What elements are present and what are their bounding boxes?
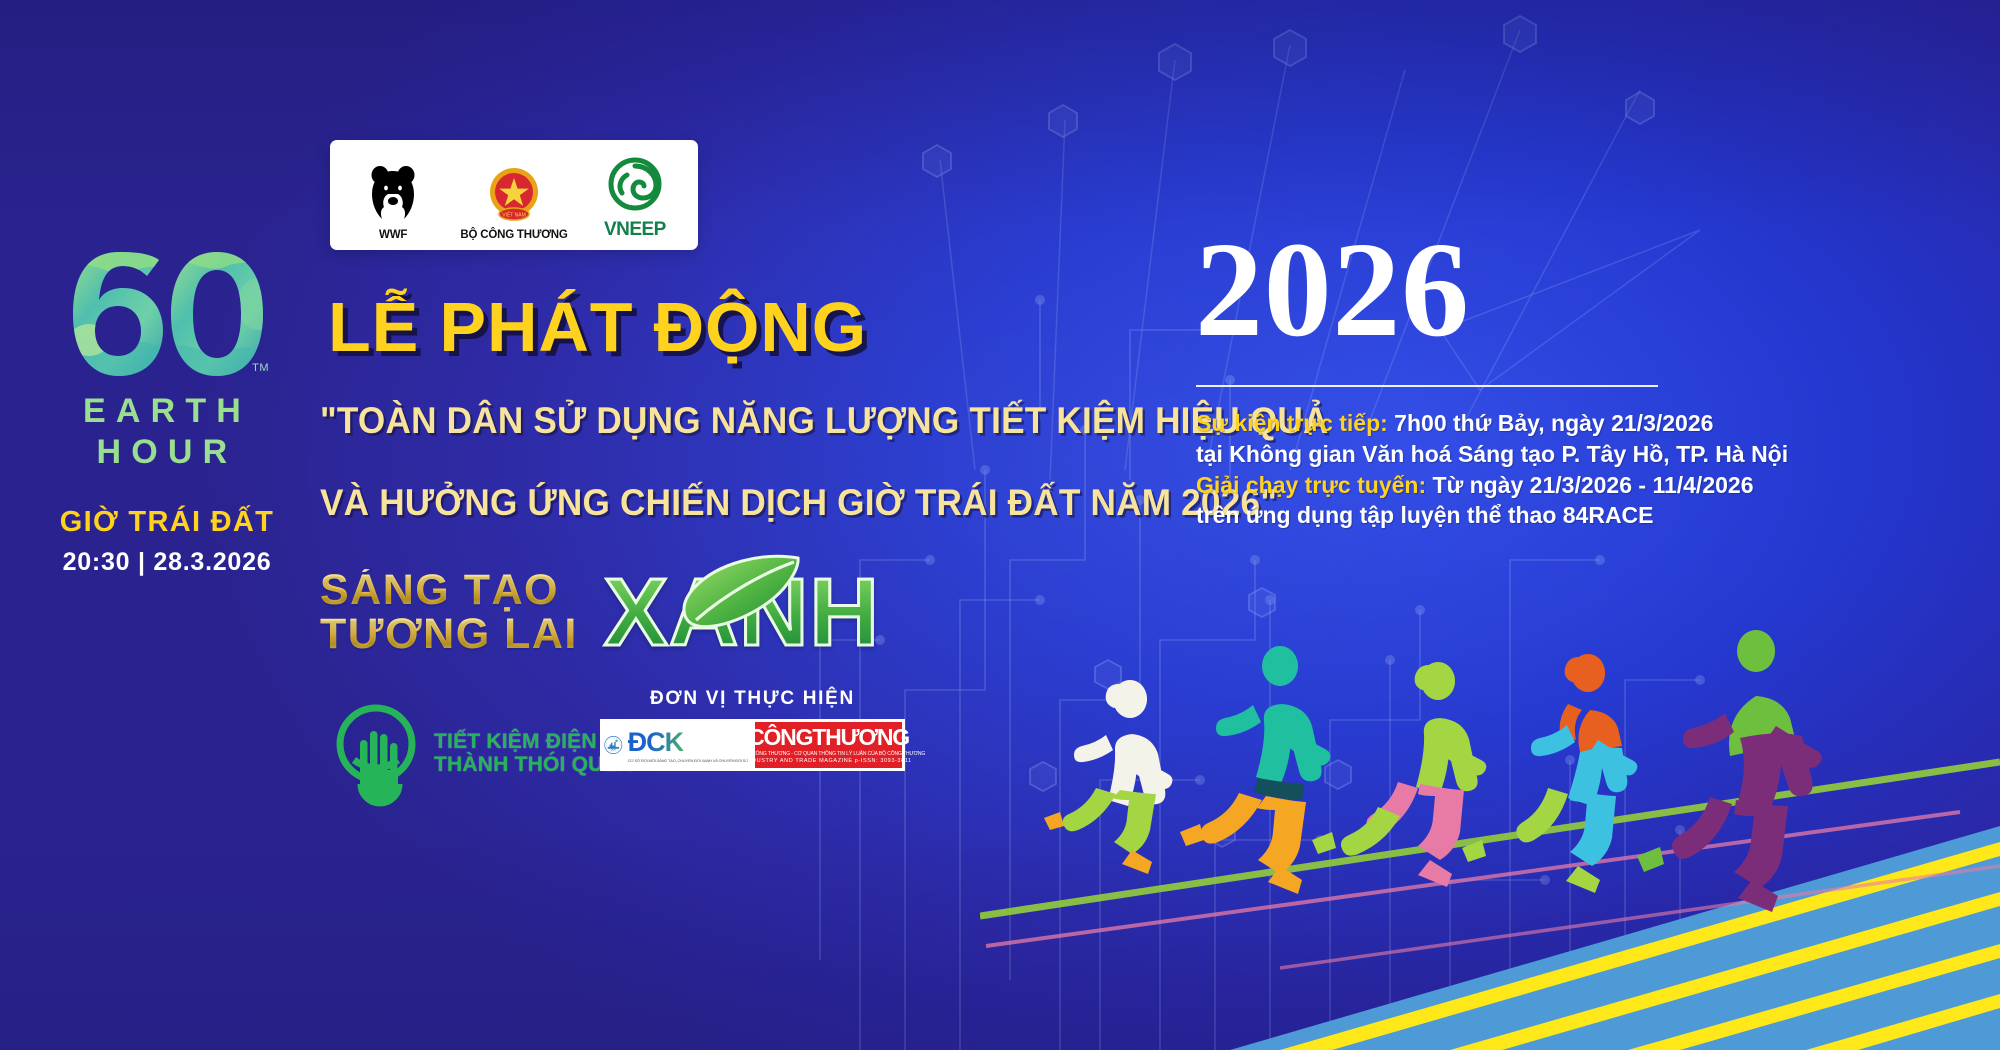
event-info-value: Từ ngày 21/3/2026 - 11/4/2026 bbox=[1426, 472, 1753, 498]
slogan-block: SÁNG TẠO TƯƠNG LAI XANH bbox=[320, 558, 880, 668]
leaf-icon bbox=[678, 552, 804, 628]
runner-legs-accent bbox=[1341, 807, 1400, 856]
slogan-line-1: SÁNG TẠO bbox=[320, 569, 578, 613]
runner-silhouette bbox=[1672, 713, 1822, 912]
event-info-key: Giải chạy trực tuyến: bbox=[1196, 472, 1426, 498]
panda-icon bbox=[362, 163, 424, 227]
dck-seal-icon: ĐCK bbox=[604, 725, 623, 765]
earth-hour-logo: TM EARTH HOUR GIỜ TRÁI ĐẤT 20:30 | 28.3.… bbox=[52, 248, 282, 577]
partner-logo-strip: WWF VIỆT NAM BỘ CÔNG THƯƠNG VNEEP bbox=[330, 140, 698, 250]
slogan-highlight-xanh: XANH bbox=[604, 558, 880, 668]
dck-subtitle: CƠ SỞ ĐỔI MỚI SÁNG TẠO, CHUYỂN ĐỔI XANH … bbox=[628, 758, 748, 763]
cong-thuong-subtitle-vi: TẠP CHÍ CÔNG THƯƠNG - CƠ QUAN THÔNG TIN … bbox=[732, 751, 925, 757]
vneep-logo: VNEEP bbox=[604, 149, 666, 241]
svg-text:VIỆT NAM: VIỆT NAM bbox=[502, 211, 526, 219]
event-info-line: tại Không gian Văn hoá Sáng tạo P. Tây H… bbox=[1196, 439, 1756, 470]
event-year: 2026 bbox=[1195, 222, 1470, 358]
runner-silhouette bbox=[1560, 654, 1622, 752]
slogan-line-2: TƯƠNG LAI bbox=[320, 613, 578, 657]
runner-silhouette bbox=[1074, 680, 1172, 806]
wwf-logo: WWF bbox=[362, 149, 424, 241]
runner-shoes bbox=[1418, 860, 1452, 887]
campaign-label-vi: GIỜ TRÁI ĐẤT bbox=[52, 506, 282, 539]
wwf-caption: WWF bbox=[379, 229, 407, 241]
runner-silhouette bbox=[1729, 630, 1796, 756]
vietnam-emblem-icon: VIỆT NAM bbox=[481, 165, 547, 227]
cong-thuong-subtitle-en: INDUSTRY AND TRADE MAGAZINE p-ISSN: 3093… bbox=[745, 758, 911, 764]
cong-thuong-logo: CÔNGTHƯƠNG TẠP CHÍ CÔNG THƯƠNG - CƠ QUAN… bbox=[752, 719, 905, 771]
vneep-caption: VNEEP bbox=[604, 219, 666, 241]
runner-shoes bbox=[1180, 824, 1302, 894]
earth-hour-word-hour: HOUR bbox=[52, 433, 282, 472]
cong-thuong-wordmark: CÔNGTHƯƠNG bbox=[748, 726, 909, 749]
organizer-block: ĐƠN VỊ THỰC HIỆN ĐCK ĐCK CƠ SỞ ĐỔI MỚI S… bbox=[600, 688, 905, 771]
campaign-datetime: 20:30 | 28.3.2026 bbox=[52, 548, 282, 577]
dck-logo: ĐCK ĐCK CƠ SỞ ĐỔI MỚI SÁNG TẠO, CHUYỂN Đ… bbox=[600, 719, 752, 771]
runner-shoe bbox=[1312, 832, 1336, 854]
dck-wordmark: ĐCK bbox=[628, 727, 684, 758]
trademark-symbol: TM bbox=[252, 362, 269, 374]
svg-text:ĐCK: ĐCK bbox=[611, 748, 616, 751]
event-info-line: trên ứng dụng tập luyện thể thao 84RACE bbox=[1196, 500, 1756, 531]
event-info-line: Sự kiện trực tiếp: 7h00 thứ Bảy, ngày 21… bbox=[1196, 408, 1756, 439]
motion-streaks bbox=[980, 762, 2000, 968]
hand-bulb-icon bbox=[330, 700, 422, 808]
event-info-block: Sự kiện trực tiếp: 7h00 thứ Bảy, ngày 21… bbox=[1196, 408, 1756, 531]
event-info-value: trên ứng dụng tập luyện thể thao 84RACE bbox=[1196, 502, 1654, 528]
subtitle-line-1: "TOÀN DÂN SỬ DỤNG NĂNG LƯỢNG TIẾT KIỆM H… bbox=[320, 400, 1329, 442]
runner-silhouette bbox=[1415, 662, 1487, 795]
saving-electricity-badge: TIẾT KIỆM ĐIỆN THÀNH THÓI QUEN bbox=[330, 700, 633, 808]
poster-canvas: TM EARTH HOUR GIỜ TRÁI ĐẤT 20:30 | 28.3.… bbox=[0, 0, 2000, 1050]
runner-silhouette bbox=[1531, 725, 1637, 866]
runner-legs bbox=[1201, 793, 1306, 874]
year-divider bbox=[1196, 385, 1658, 387]
event-info-value: tại Không gian Văn hoá Sáng tạo P. Tây H… bbox=[1196, 441, 1788, 467]
runners-illustration bbox=[980, 630, 2000, 1050]
runner-shoes bbox=[1637, 847, 1664, 872]
runner-shoes bbox=[1044, 812, 1152, 874]
vneep-swirl-icon bbox=[606, 157, 664, 217]
earth-hour-word-earth: EARTH bbox=[52, 392, 282, 431]
runner-shorts bbox=[1254, 778, 1304, 800]
runner-legs bbox=[1063, 788, 1156, 854]
organizer-title: ĐƠN VỊ THỰC HIỆN bbox=[600, 688, 905, 710]
runner-silhouette bbox=[1216, 646, 1330, 785]
event-info-value: 7h00 thứ Bảy, ngày 21/3/2026 bbox=[1388, 410, 1714, 436]
running-track bbox=[980, 826, 2000, 1050]
event-info-line: Giải chạy trực tuyến: Từ ngày 21/3/2026 … bbox=[1196, 470, 1756, 501]
runner-legs bbox=[1462, 788, 1600, 893]
earth-hour-60-mark: TM bbox=[67, 248, 267, 380]
subtitle-line-2: VÀ HƯỞNG ỨNG CHIẾN DỊCH GIỜ TRÁI ĐẤT NĂM… bbox=[320, 482, 1277, 524]
page-title: LỄ PHÁT ĐỘNG bbox=[328, 287, 867, 367]
event-info-key: Sự kiện trực tiếp: bbox=[1196, 410, 1388, 436]
bo-cong-thuong-caption: BỘ CÔNG THƯƠNG bbox=[460, 229, 567, 241]
runner-legs bbox=[1366, 782, 1464, 860]
bo-cong-thuong-logo: VIỆT NAM BỘ CÔNG THƯƠNG bbox=[460, 149, 567, 241]
